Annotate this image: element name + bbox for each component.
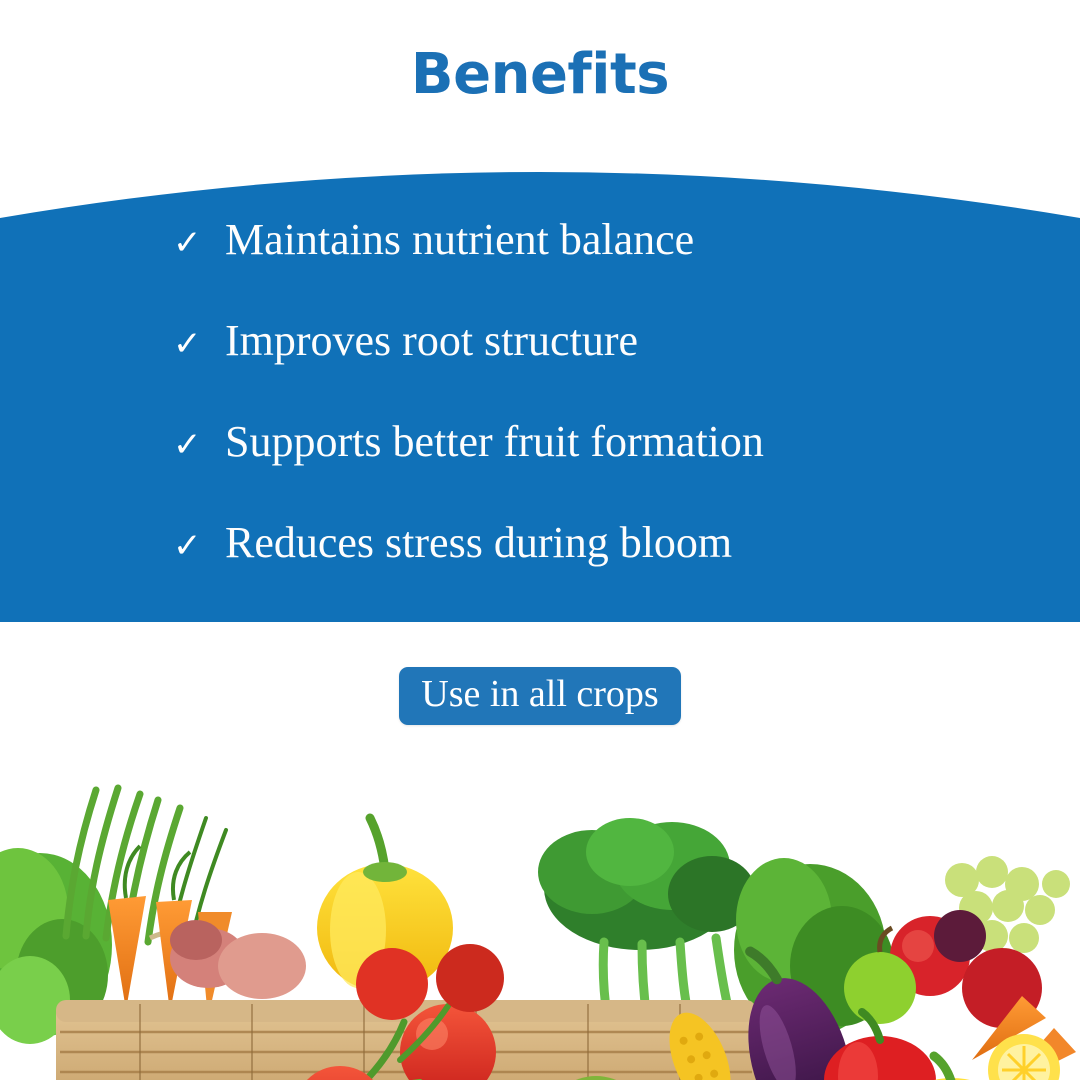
list-item: ✓ Supports better fruit formation — [173, 420, 1080, 521]
benefits-poster: Benefits ✓ Maintains nutrient balance ✓ … — [0, 0, 1080, 1080]
page-title: Benefits — [411, 47, 669, 103]
benefit-label: Reduces stress during bloom — [225, 521, 732, 565]
check-icon: ✓ — [173, 529, 225, 563]
check-icon: ✓ — [173, 226, 225, 260]
list-item: ✓ Maintains nutrient balance — [173, 218, 1080, 319]
check-icon: ✓ — [173, 428, 225, 462]
produce-illustration — [0, 760, 1080, 1080]
list-item: ✓ Improves root structure — [173, 319, 1080, 420]
badge-row: Use in all crops — [0, 622, 1080, 765]
check-icon: ✓ — [173, 327, 225, 361]
benefit-label: Improves root structure — [225, 319, 638, 363]
benefit-label: Supports better fruit formation — [225, 420, 764, 464]
benefit-label: Maintains nutrient balance — [225, 218, 694, 262]
use-in-all-crops-badge[interactable]: Use in all crops — [399, 667, 680, 725]
benefits-panel: ✓ Maintains nutrient balance ✓ Improves … — [0, 140, 1080, 622]
benefits-list: ✓ Maintains nutrient balance ✓ Improves … — [0, 140, 1080, 622]
produce-photo — [0, 760, 1080, 1080]
title-area: Benefits — [0, 0, 1080, 150]
list-item: ✓ Reduces stress during bloom — [173, 521, 1080, 622]
